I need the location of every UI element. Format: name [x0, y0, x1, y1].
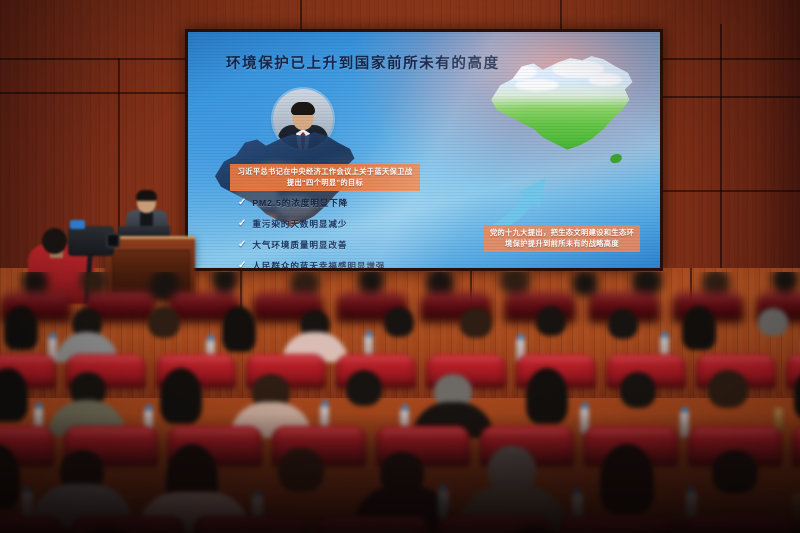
slide-bullet: ✓ 大气环境质量明显改善: [238, 239, 385, 251]
slide-bullet: ✓ PM2.5的浓度明显下降: [238, 197, 385, 209]
audience-area: [0, 272, 800, 533]
check-icon: ✓: [238, 198, 246, 208]
slide-bullet-label: PM2.5的浓度明显下降: [252, 197, 348, 209]
wall-seam: [560, 0, 562, 30]
slide-bullet: ✓ 重污染的天数明显减少: [238, 218, 385, 230]
wall-seam: [663, 96, 800, 98]
wall-seam: [663, 190, 800, 192]
china-map-clean-island: [609, 152, 623, 164]
wall-seam: [0, 92, 185, 94]
check-icon: ✓: [238, 261, 246, 268]
projection-screen-frame: 环境保护已上升到国家前所未有的高度: [185, 29, 663, 271]
video-camera: [68, 226, 114, 256]
camera-viewfinder: [70, 220, 85, 229]
wall-seam: [300, 0, 302, 30]
wall-seam: [720, 24, 722, 272]
slide-bullet-list: ✓ PM2.5的浓度明显下降 ✓ 重污染的天数明显减少 ✓ 大气环境质量明显改善…: [238, 197, 385, 268]
slide-banner-right: 党的十九大提出，把生态文明建设和生态环境保护提升到前所未有的战略高度: [484, 225, 640, 252]
slide-bullet: ✓ 人民群众的蓝天幸福感明显增强: [238, 260, 385, 268]
slide-bullet-label: 重污染的天数明显减少: [252, 218, 347, 230]
check-icon: ✓: [238, 240, 246, 250]
camera-lens-icon: [106, 233, 120, 248]
audience-row: [0, 444, 800, 533]
slide-title: 环境保护已上升到国家前所未有的高度: [226, 52, 500, 73]
slide-bullet-label: 人民群众的蓝天幸福感明显增强: [252, 260, 385, 268]
slide-banner-left: 习近平总书记在中央经济工作会议上关于蓝天保卫战提出“四个明显”的目标: [230, 164, 420, 191]
presentation-slide[interactable]: 环境保护已上升到国家前所未有的高度: [188, 32, 660, 268]
check-icon: ✓: [238, 219, 246, 229]
china-map-clean: [482, 54, 634, 158]
slide-bullet-label: 大气环境质量明显改善: [252, 239, 347, 251]
conference-hall-photo: 环境保护已上升到国家前所未有的高度: [0, 0, 800, 533]
